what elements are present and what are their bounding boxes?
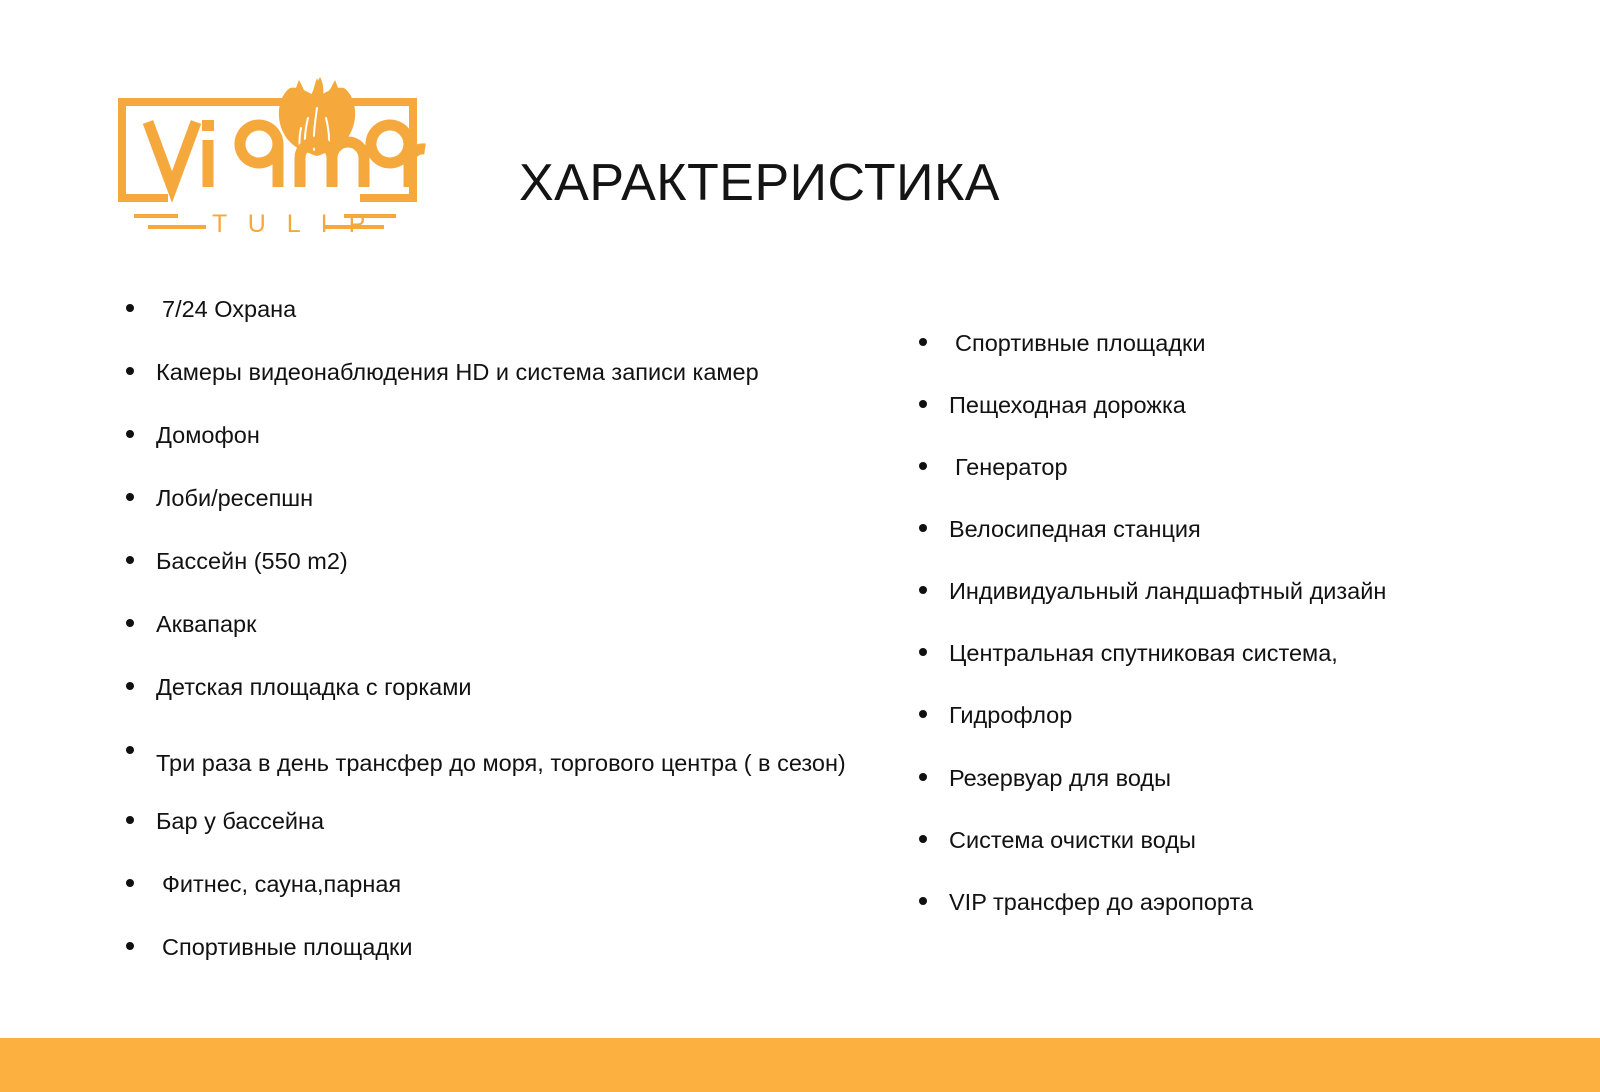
list-item-label: Детская площадка с горками [156, 674, 471, 700]
list-item: Бар у бассейна [112, 806, 882, 836]
list-item: Детская площадка с горками [112, 672, 882, 702]
bullet-icon [126, 304, 134, 312]
list-item: Камеры видеонаблюдения HD и система запи… [112, 357, 916, 387]
features-list-left: 7/24 Охрана Камеры видеонаблюдения HD и … [112, 294, 882, 995]
bullet-icon [919, 586, 927, 594]
list-item: Спортивные площадки [905, 328, 1505, 358]
list-item-label: Камеры видеонаблюдения HD и система запи… [156, 357, 916, 387]
list-item-label: Лоби/ресепшн [156, 485, 313, 511]
list-item: Три раза в день трансфер до моря, торгов… [112, 736, 916, 790]
list-item-label: Пещеходная дорожка [949, 392, 1186, 418]
brand-logo: T U L I P [112, 62, 442, 242]
list-item-label: Система очистки воды [949, 827, 1196, 853]
list-item-label: Резервуар для воды [949, 765, 1171, 791]
bullet-icon [126, 816, 134, 824]
list-item-label: Индивидуальный ландшафтный дизайн [949, 578, 1386, 604]
bullet-icon [919, 462, 927, 470]
bullet-icon [126, 942, 134, 950]
list-item-label: Домофон [156, 422, 260, 448]
letter-i-dot [202, 120, 214, 131]
list-item: Система очистки воды [905, 825, 1505, 855]
list-item: Велосипедная станция [905, 514, 1505, 544]
list-item: Резервуар для воды [905, 763, 1505, 793]
bullet-icon [919, 773, 927, 781]
list-item: Фитнес, сауна,парная [112, 869, 882, 899]
list-item: 7/24 Охрана [112, 294, 882, 324]
list-item: Центральная спутниковая система, [905, 638, 1505, 668]
bullet-icon [919, 524, 927, 532]
viamar-tulip-logo-svg: T U L I P [112, 62, 442, 242]
list-item-label: Спортивные площадки [162, 934, 412, 960]
list-item-label: Спортивные площадки [955, 330, 1205, 356]
bullet-icon [126, 682, 134, 690]
bullet-icon [919, 338, 927, 346]
page-title: ХАРАКТЕРИСТИКА [519, 153, 1000, 213]
bullet-icon [919, 400, 927, 408]
bullet-icon [919, 710, 927, 718]
bullet-icon [919, 897, 927, 905]
logo-subtitle-text: T U L I P [212, 210, 372, 238]
list-item: Спортивные площадки [112, 932, 882, 962]
bullet-icon [126, 367, 134, 375]
list-item: Аквапарк [112, 609, 882, 639]
list-item-label: Велосипедная станция [949, 516, 1201, 542]
list-item-label: Аквапарк [156, 611, 256, 637]
list-item: Бассейн (550 m2) [112, 546, 882, 576]
bullet-icon [126, 619, 134, 627]
list-item-label: 7/24 Охрана [162, 296, 296, 322]
list-item-label: Бассейн (550 m2) [156, 548, 348, 574]
list-item-label: Три раза в день трансфер до моря, торгов… [156, 736, 916, 790]
bullet-icon [919, 648, 927, 656]
list-item: Индивидуальный ландшафтный дизайн [905, 576, 1505, 606]
bullet-icon [126, 493, 134, 501]
list-item: Лоби/ресепшн [112, 483, 882, 513]
list-item-label: Фитнес, сауна,парная [162, 871, 401, 897]
list-item: Пещеходная дорожка [905, 390, 1505, 420]
bullet-icon [126, 430, 134, 438]
list-item-label: VIP трансфер до аэропорта [949, 889, 1253, 915]
bullet-icon [919, 835, 927, 843]
list-item-label: Генератор [955, 454, 1068, 480]
list-item: Домофон [112, 420, 882, 450]
bullet-icon [126, 879, 134, 887]
bullet-icon [126, 746, 134, 754]
brand-wordmark [148, 122, 409, 187]
bullet-icon [126, 556, 134, 564]
list-item: VIP трансфер до аэропорта [905, 887, 1505, 917]
list-item: Генератор [905, 452, 1505, 482]
list-item-label: Бар у бассейна [156, 808, 324, 834]
list-item-label: Гидрофлор [949, 702, 1072, 728]
features-list-right: Спортивные площадки Пещеходная дорожка Г… [905, 328, 1505, 949]
slide: T U L I P ХАРАКТЕРИСТИКА 7/24 Охрана Кам… [0, 0, 1600, 1092]
list-item: Гидрофлор [905, 700, 1505, 730]
footer-accent-band [0, 1038, 1600, 1092]
list-item-label: Центральная спутниковая система, [949, 640, 1338, 666]
